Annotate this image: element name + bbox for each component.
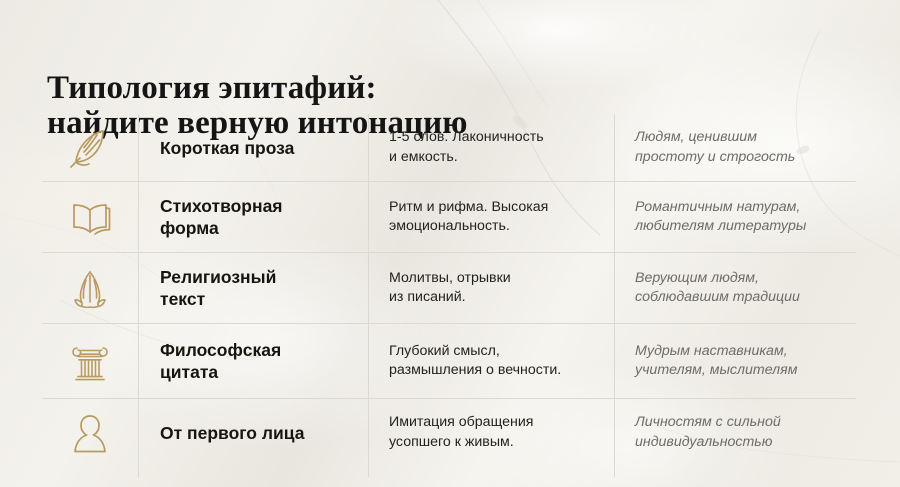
row-description-cell: 1-5 слов. Лаконичность и емкость.	[368, 114, 614, 181]
typology-table: Короткая проза 1-5 слов. Лаконичность и …	[42, 114, 856, 466]
column-divider-tail-2	[368, 462, 369, 477]
row-name: Философская цитата	[160, 339, 281, 383]
table-row: От первого лица Имитация обращения усопш…	[42, 398, 856, 466]
row-audience: Личностям с сильной индивидуальностью	[635, 413, 781, 452]
row-name-cell: Короткая проза	[138, 114, 368, 181]
row-audience-cell: Романтичным натурам, любителям литератур…	[614, 182, 856, 252]
page-title-line-1: Типология эпитафий:	[47, 70, 377, 106]
row-audience-cell: Верующим людям, соблюдавшим традиции	[614, 253, 856, 323]
row-description: Имитация обращения усопшего к живым.	[389, 413, 533, 452]
row-description: Ритм и рифма. Высокая эмоциональность.	[389, 198, 548, 237]
table-row: Короткая проза 1-5 слов. Лаконичность и …	[42, 114, 856, 181]
row-icon-cell	[42, 114, 138, 181]
row-description-cell: Имитация обращения усопшего к живым.	[368, 399, 614, 466]
column-divider-tail-1	[138, 462, 139, 477]
row-audience: Верующим людям, соблюдавшим традиции	[635, 269, 800, 308]
row-name: От первого лица	[160, 422, 304, 444]
ionic-column-icon	[64, 335, 116, 387]
row-icon-cell	[42, 182, 138, 252]
row-name-cell: Стихотворная форма	[138, 182, 368, 252]
row-audience: Романтичным натурам, любителям литератур…	[635, 198, 806, 237]
row-name-cell: Религиозный текст	[138, 253, 368, 323]
row-audience: Людям, ценившим простоту и строгость	[635, 128, 795, 167]
row-audience-cell: Личностям с сильной индивидуальностью	[614, 399, 856, 466]
row-description-cell: Глубокий смысл, размышления о вечности.	[368, 324, 614, 398]
praying-hands-icon	[64, 262, 116, 314]
row-description: Глубокий смысл, размышления о вечности.	[389, 342, 561, 381]
row-name-cell: Философская цитата	[138, 324, 368, 398]
column-divider-tail-3	[614, 462, 615, 477]
row-description-cell: Молитвы, отрывки из писаний.	[368, 253, 614, 323]
row-audience-cell: Мудрым наставникам, учителям, мыслителям	[614, 324, 856, 398]
row-audience-cell: Людям, ценившим простоту и строгость	[614, 114, 856, 181]
open-book-icon	[64, 191, 116, 243]
row-description-cell: Ритм и рифма. Высокая эмоциональность.	[368, 182, 614, 252]
row-name: Стихотворная форма	[160, 195, 283, 239]
row-description: 1-5 слов. Лаконичность и емкость.	[389, 128, 544, 167]
table-row: Стихотворная форма Ритм и рифма. Высокая…	[42, 181, 856, 252]
table-row: Философская цитата Глубокий смысл, размы…	[42, 323, 856, 398]
row-audience: Мудрым наставникам, учителям, мыслителям	[635, 342, 797, 381]
row-name: Религиозный текст	[160, 266, 276, 310]
table-row: Религиозный текст Молитвы, отрывки из пи…	[42, 252, 856, 323]
row-name-cell: От первого лица	[138, 399, 368, 466]
person-silhouette-icon	[64, 407, 116, 459]
row-description: Молитвы, отрывки из писаний.	[389, 269, 511, 308]
quill-feather-icon	[64, 122, 116, 174]
row-name: Короткая проза	[160, 137, 294, 159]
row-icon-cell	[42, 399, 138, 466]
row-icon-cell	[42, 324, 138, 398]
row-icon-cell	[42, 253, 138, 323]
